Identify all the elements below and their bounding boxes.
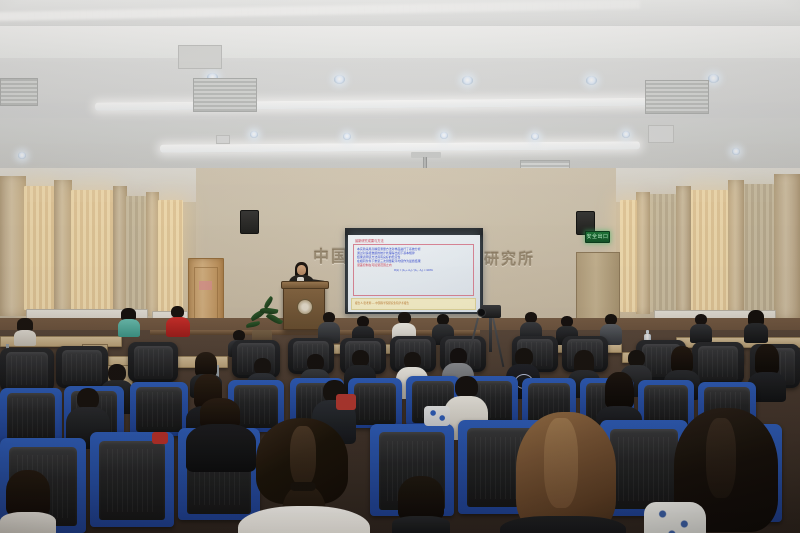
wall-wood-column [113,186,127,314]
wall-wood-column [774,174,800,318]
presentation-slide: 最新研究成果与方法 本实验采用高精度测量方法对样品进行了系统分析 通过对多组数据… [348,235,480,312]
chair[interactable] [128,342,178,382]
audience-member [166,306,190,336]
hair-highlight [706,418,736,498]
window-blinds [620,200,637,312]
downlight-icon [440,132,448,139]
chair[interactable] [0,348,54,392]
person-hair [755,344,779,374]
ceiling [0,0,800,172]
door-notice [199,281,212,290]
exit-sign-label: 安全出口 [586,232,609,242]
screen-top-casing [345,228,483,235]
patterned-bag [644,502,706,533]
person-torso [744,323,768,343]
downlight-icon [343,133,351,140]
screen-surface: 最新研究成果与方法 本实验采用高精度测量方法对样品进行了系统分析 通过对多组数据… [348,235,480,312]
slide-caption-band: 报告人:张老师 — 中国科学院研究生院学术报告 [351,298,476,310]
slide-content-box: 本实验采用高精度测量方法对样品进行了系统分析 通过对多组数据的统计处理得出如下基… [353,244,474,296]
person-hair [398,476,444,520]
person-torso [0,512,56,533]
ceiling-access-hatch [178,45,222,69]
chair[interactable] [90,432,174,527]
wall-wood-column [728,180,744,316]
downlight-icon [708,74,719,83]
projection-screen: 最新研究成果与方法 本实验采用高精度测量方法对样品进行了系统分析 通过对多组数据… [345,228,483,314]
red-item [152,432,168,444]
downlight-icon [732,148,740,155]
audience-member-foreground-center [238,418,370,533]
presenter-head [297,265,306,275]
wall-wood-column [676,186,691,314]
slide-title: 最新研究成果与方法 [355,239,476,243]
lecture-hall-photo: 中国科 研究所 安全出口 最新研究成果与方法 本实验采用高精度测量方法对样品进行… [0,0,800,533]
window-blinds [71,190,113,310]
downlight-icon [250,131,258,138]
window-blinds [690,190,728,312]
wall-speaker [240,210,259,234]
slide-equation: R(λ) = (A₁ + A₂) / (A₁ · A₂) × 100% [357,269,470,273]
institution-emblem [297,299,313,315]
person-torso [238,506,370,533]
downlight-icon [334,75,345,84]
window-blinds [126,196,146,310]
audience-member-foreground-right [500,412,626,533]
audience-member-foreground [0,470,56,533]
slide-caption: 报告人:张老师 — 中国科学院研究生院学术报告 [352,299,475,309]
wall-wood-column [54,180,72,316]
wall-wood-column [0,176,26,316]
downlight-icon [18,152,26,159]
audience-member-foreground [392,476,450,533]
audience-member [14,318,36,344]
hvac-vent [193,78,257,112]
person-hair [574,350,594,372]
door-panel [194,267,218,321]
wall-text-right: 研究所 [484,248,535,269]
audience-member-foreground-far-right [660,408,790,533]
downlight-icon [531,133,539,140]
hair-tie [290,482,316,491]
downlight-icon [586,76,597,85]
downlight-icon [462,76,473,85]
person-torso [500,516,626,533]
patterned-clothing [424,406,450,426]
window-blinds [158,200,183,312]
person-hair [605,372,634,408]
slide-line-highlight: 误差控制在可接受范围之内 [357,263,470,267]
person-hair [195,352,217,376]
hvac-vent [645,80,709,114]
audience-member [744,310,768,342]
person-torso [118,319,140,337]
exit-sign: 安全出口 [585,231,610,243]
ceiling-access-hatch [648,125,674,143]
person-torso [14,330,36,346]
person-torso [392,516,450,533]
audience-member [118,308,140,336]
hair-highlight [290,426,316,486]
person-torso [166,317,190,337]
stage-edge [150,330,480,335]
hvac-vent [0,78,38,106]
window-blinds [742,184,774,312]
hair-highlight [544,418,578,508]
tripod-column [489,316,492,352]
audience-member [690,314,712,342]
wall-wood-column [636,192,650,314]
person-hair [6,470,50,516]
ceiling-band [0,26,800,60]
red-item [336,394,356,410]
ceiling-access-hatch [216,135,230,144]
downlight-icon [622,131,630,138]
person-hair [671,346,693,372]
window-blinds [650,194,676,312]
podium-top [281,281,329,289]
person-torso [690,324,712,343]
camera-lens-icon [477,308,486,317]
window-blinds [24,186,54,310]
